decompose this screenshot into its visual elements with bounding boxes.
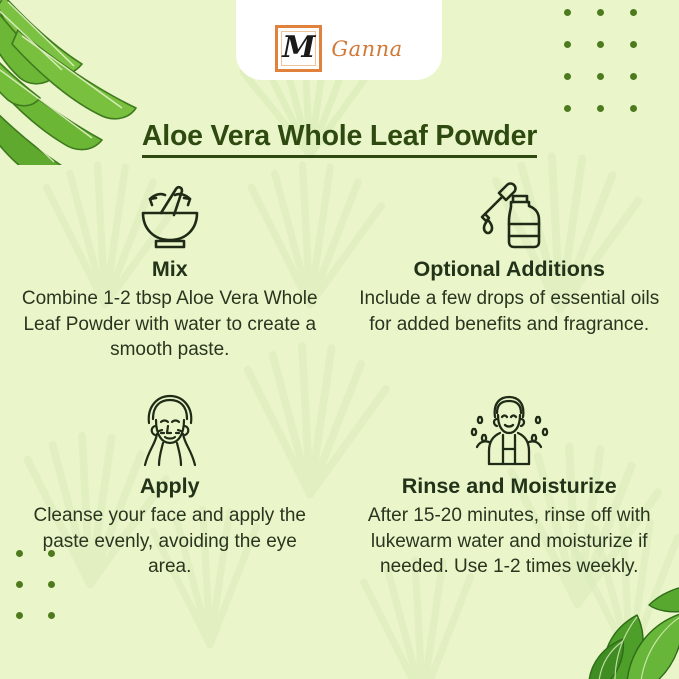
dot-grid-top-right — [564, 9, 663, 137]
dot — [564, 105, 571, 112]
step-body: Combine 1-2 tbsp Aloe Vera Whole Leaf Po… — [20, 286, 320, 363]
step-body: Cleanse your face and apply the paste ev… — [20, 503, 320, 580]
page-title: Aloe Vera Whole Leaf Powder — [0, 120, 679, 153]
step-rinse-moisturize: Rinse and Moisturize After 15-20 minutes… — [340, 389, 679, 580]
dot — [630, 105, 637, 112]
step-body: After 15-20 minutes, rinse off with luke… — [354, 503, 664, 580]
mortar-pestle-icon — [134, 172, 206, 250]
dropper-bottle-icon — [473, 172, 545, 250]
dot — [597, 73, 604, 80]
step-title: Rinse and Moisturize — [402, 474, 617, 499]
step-title: Optional Additions — [414, 257, 605, 282]
step-mix: Mix Combine 1-2 tbsp Aloe Vera Whole Lea… — [0, 172, 340, 363]
face-apply-icon — [135, 389, 205, 467]
dot — [597, 9, 604, 16]
brand-name: Ganna — [331, 37, 402, 61]
dot — [48, 581, 55, 588]
brand-monogram-letter: M — [282, 33, 315, 63]
face-rinse-icon — [467, 389, 551, 467]
steps-grid: Mix Combine 1-2 tbsp Aloe Vera Whole Lea… — [0, 172, 679, 580]
dot — [564, 73, 571, 80]
step-title: Apply — [140, 474, 200, 499]
dot — [564, 9, 571, 16]
step-title: Mix — [152, 257, 188, 282]
dot — [630, 41, 637, 48]
dot — [597, 105, 604, 112]
dot — [16, 612, 23, 619]
brand-monogram-mark: M — [275, 25, 322, 72]
dot — [597, 41, 604, 48]
dot — [630, 73, 637, 80]
poster: M Ganna Aloe Vera Whole Leaf Powder — [0, 0, 679, 679]
leaf-cluster-icon — [575, 577, 679, 679]
dot — [630, 9, 637, 16]
brand-logo-card: M Ganna — [236, 0, 442, 80]
dot — [16, 581, 23, 588]
step-body: Include a few drops of essential oils fo… — [354, 286, 664, 337]
step-apply: Apply Cleanse your face and apply the pa… — [0, 389, 340, 580]
dot — [564, 41, 571, 48]
page-title-text: Aloe Vera Whole Leaf Powder — [142, 120, 537, 158]
step-optional-additions: Optional Additions Include a few drops o… — [340, 172, 679, 363]
dot — [48, 612, 55, 619]
